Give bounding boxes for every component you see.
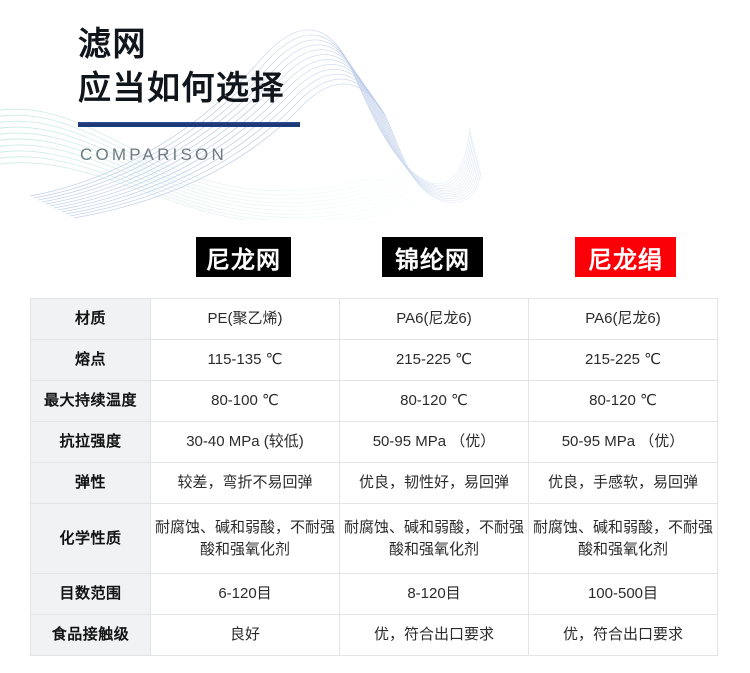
- row-header-melting-point: 熔点: [31, 340, 151, 381]
- cell-elasticity-col2: 优良，韧性好，易回弹: [340, 463, 529, 504]
- table-row: 化学性质 耐腐蚀、碱和弱酸，不耐强酸和强氧化剂 耐腐蚀、碱和弱酸，不耐强酸和强氧…: [31, 504, 718, 574]
- hero-title-block: 滤网 应当如何选择: [78, 22, 498, 109]
- cell-food-grade-col1: 良好: [151, 615, 340, 656]
- cell-melting-point-col2: 215-225 ℃: [340, 340, 529, 381]
- comparison-infographic-page: 滤网 应当如何选择 COMPARISON 尼龙网 锦纶网 尼龙绢 材质 PE(聚…: [0, 0, 750, 673]
- title-divider: [78, 122, 300, 127]
- page-title-line-2: 应当如何选择: [78, 66, 498, 110]
- hero-section: 滤网 应当如何选择 COMPARISON: [0, 0, 750, 220]
- table-row: 弹性 较差，弯折不易回弹 优良，韧性好，易回弹 优良，手感软，易回弹: [31, 463, 718, 504]
- comparison-table: 材质 PE(聚乙烯) PA6(尼龙6) PA6(尼龙6) 熔点 115-135 …: [30, 298, 718, 656]
- cell-elasticity-col3: 优良，手感软，易回弹: [529, 463, 718, 504]
- cell-chemical-col1: 耐腐蚀、碱和弱酸，不耐强酸和强氧化剂: [151, 504, 340, 574]
- cell-tensile-col1: 30-40 MPa (较低): [151, 422, 340, 463]
- table-row: 食品接触级 良好 优，符合出口要求 优，符合出口要求: [31, 615, 718, 656]
- cell-chemical-col3: 耐腐蚀、碱和弱酸，不耐强酸和强氧化剂: [529, 504, 718, 574]
- cell-max-temp-col1: 80-100 ℃: [151, 381, 340, 422]
- cell-mesh-range-col1: 6-120目: [151, 574, 340, 615]
- column-badge-nylon-mesh: 尼龙网: [196, 237, 291, 277]
- cell-material-col2: PA6(尼龙6): [340, 299, 529, 340]
- cell-chemical-col2: 耐腐蚀、碱和弱酸，不耐强酸和强氧化剂: [340, 504, 529, 574]
- hero-subtitle: COMPARISON: [80, 145, 227, 165]
- table-row: 目数范围 6-120目 8-120目 100-500目: [31, 574, 718, 615]
- row-header-chemical-properties: 化学性质: [31, 504, 151, 574]
- page-title-line-1: 滤网: [78, 22, 498, 66]
- cell-melting-point-col3: 215-225 ℃: [529, 340, 718, 381]
- cell-mesh-range-col3: 100-500目: [529, 574, 718, 615]
- table-row: 抗拉强度 30-40 MPa (较低) 50-95 MPa （优） 50-95 …: [31, 422, 718, 463]
- table-row: 最大持续温度 80-100 ℃ 80-120 ℃ 80-120 ℃: [31, 381, 718, 422]
- row-header-elasticity: 弹性: [31, 463, 151, 504]
- cell-melting-point-col1: 115-135 ℃: [151, 340, 340, 381]
- cell-material-col3: PA6(尼龙6): [529, 299, 718, 340]
- column-header-badges: 尼龙网 锦纶网 尼龙绢: [0, 237, 750, 279]
- table-row: 熔点 115-135 ℃ 215-225 ℃ 215-225 ℃: [31, 340, 718, 381]
- cell-elasticity-col1: 较差，弯折不易回弹: [151, 463, 340, 504]
- cell-mesh-range-col2: 8-120目: [340, 574, 529, 615]
- column-badge-polyamide-mesh: 锦纶网: [382, 237, 483, 277]
- row-header-food-contact-grade: 食品接触级: [31, 615, 151, 656]
- cell-max-temp-col2: 80-120 ℃: [340, 381, 529, 422]
- cell-material-col1: PE(聚乙烯): [151, 299, 340, 340]
- row-header-max-continuous-temp: 最大持续温度: [31, 381, 151, 422]
- row-header-mesh-range: 目数范围: [31, 574, 151, 615]
- cell-tensile-col3: 50-95 MPa （优）: [529, 422, 718, 463]
- cell-max-temp-col3: 80-120 ℃: [529, 381, 718, 422]
- row-header-tensile-strength: 抗拉强度: [31, 422, 151, 463]
- table-row: 材质 PE(聚乙烯) PA6(尼龙6) PA6(尼龙6): [31, 299, 718, 340]
- cell-tensile-col2: 50-95 MPa （优）: [340, 422, 529, 463]
- row-header-material: 材质: [31, 299, 151, 340]
- cell-food-grade-col3: 优，符合出口要求: [529, 615, 718, 656]
- column-badge-nylon-silk: 尼龙绢: [575, 237, 676, 277]
- cell-food-grade-col2: 优，符合出口要求: [340, 615, 529, 656]
